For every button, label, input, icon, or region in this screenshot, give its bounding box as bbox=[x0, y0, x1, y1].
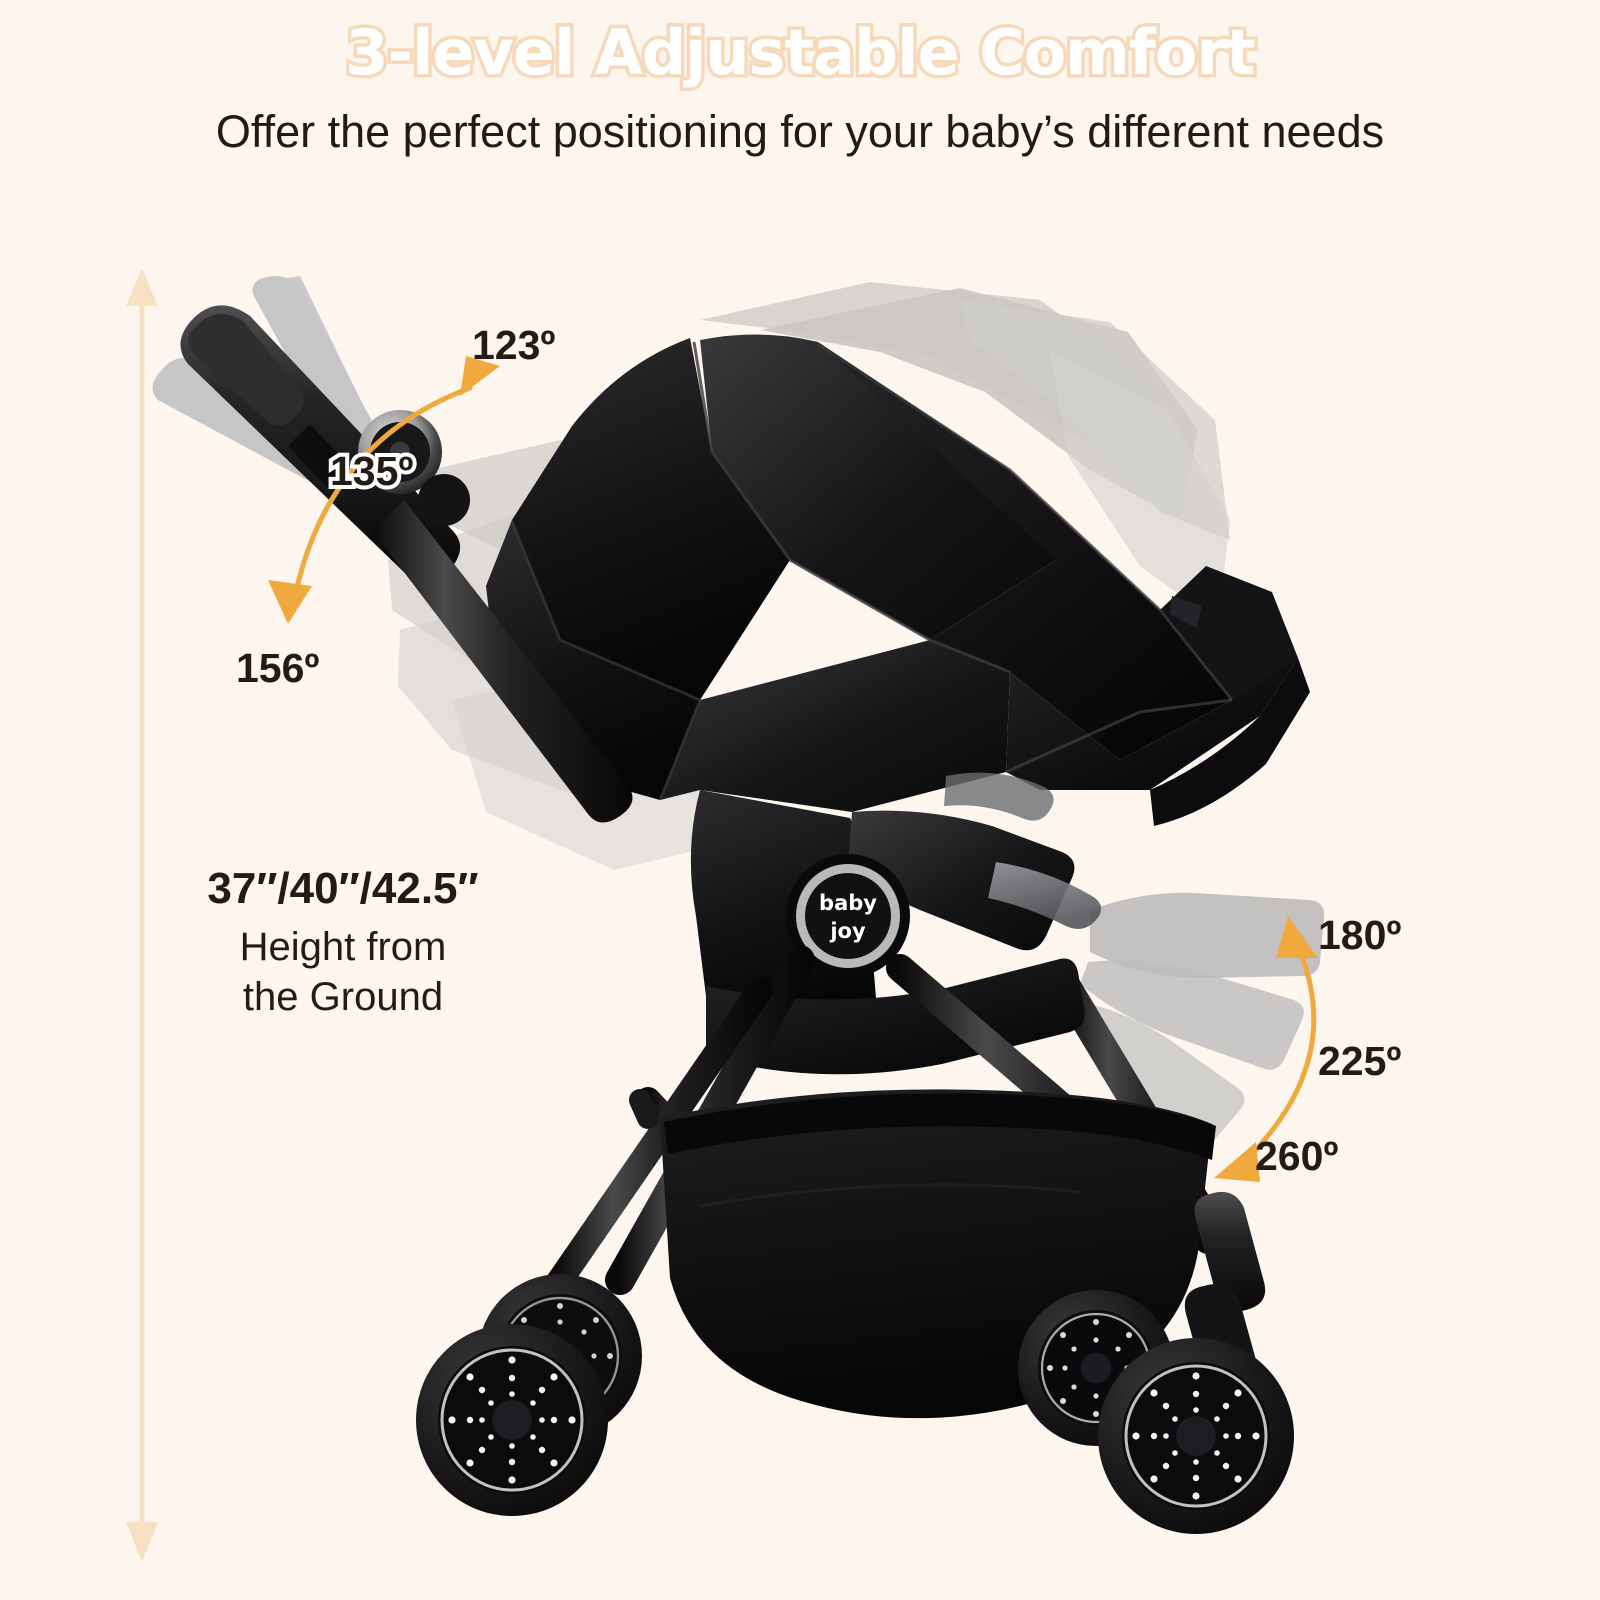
annotation-arrows bbox=[0, 0, 1600, 1600]
angle-label-123: 123º bbox=[472, 322, 555, 369]
height-measure-arrow bbox=[126, 268, 158, 1562]
angle-label-225: 225º bbox=[1318, 1038, 1401, 1085]
angle-label-135: 135º bbox=[330, 448, 413, 495]
angle-label-180: 180º bbox=[1318, 912, 1401, 959]
height-value: 37″/40″/42.5″ bbox=[178, 862, 508, 916]
height-caption-line2: the Ground bbox=[178, 972, 508, 1022]
height-annotation: 37″/40″/42.5″ Height from the Ground bbox=[178, 862, 508, 1022]
product-infographic: 3-level Adjustable Comfort Offer the per… bbox=[0, 0, 1600, 1600]
height-caption-line1: Height from bbox=[178, 922, 508, 972]
height-caption: Height from the Ground bbox=[178, 922, 508, 1023]
angle-label-156: 156º bbox=[236, 645, 319, 692]
angle-label-260: 260º bbox=[1255, 1133, 1338, 1180]
